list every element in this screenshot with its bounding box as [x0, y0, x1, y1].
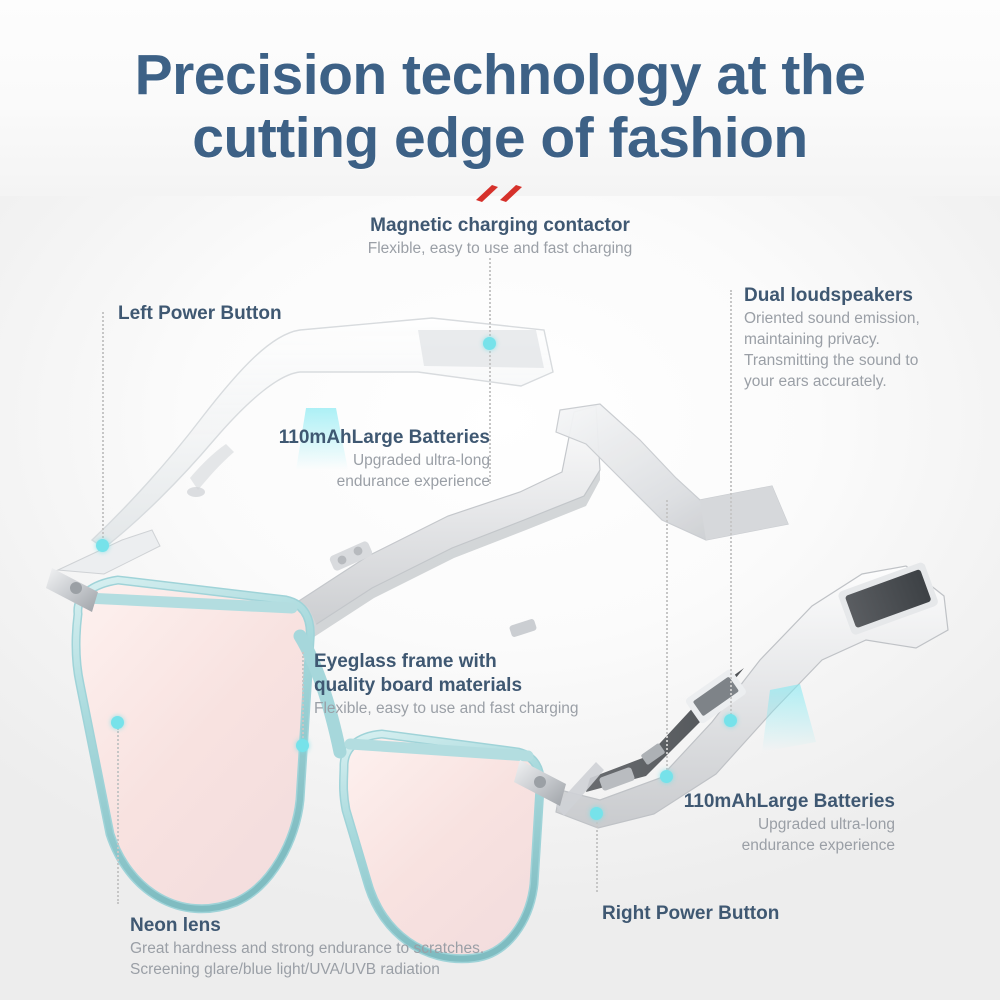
marker-dot-neon-lens — [111, 716, 124, 729]
callout-subtitle-line-2: maintaining privacy. — [744, 329, 974, 350]
callout-subtitle: Flexible, easy to use and fast charging — [330, 238, 670, 259]
callout-title-line-1: Eyeglass frame with — [314, 650, 634, 674]
callout-subtitle-line-4: your ears accurately. — [744, 371, 974, 392]
callout-title: Right Power Button — [602, 902, 862, 926]
callout-subtitle-line-3: Transmitting the sound to — [744, 350, 974, 371]
callout-title-line-2: quality board materials — [314, 674, 634, 698]
callout-subtitle: Flexible, easy to use and fast charging — [314, 698, 634, 719]
marker-dot-magnetic-charging — [483, 337, 496, 350]
page-title-line-1: Precision technology at the — [0, 44, 1000, 107]
callout-batteries-upper: 110mAhLarge Batteries Upgraded ultra-lon… — [228, 426, 490, 492]
leader-line-right-power-button — [596, 818, 598, 892]
callout-subtitle-line-2: endurance experience — [228, 471, 490, 492]
title-banner: Precision technology at the cutting edge… — [0, 0, 1000, 196]
marker-dot-left-power-button — [96, 539, 109, 552]
marker-dot-right-power-button — [590, 807, 603, 820]
marker-dot-batteries-lower — [660, 770, 673, 783]
marker-dot-dual-loudspeakers — [724, 714, 737, 727]
leader-line-batteries-lower — [666, 500, 668, 778]
callout-subtitle-line-2: endurance experience — [630, 835, 895, 856]
callout-title: Left Power Button — [118, 302, 378, 326]
leader-line-dual-loudspeakers — [730, 290, 732, 722]
product-infographic: Precision technology at the cutting edge… — [0, 0, 1000, 1000]
callout-left-power-button: Left Power Button — [118, 302, 378, 326]
callout-right-power-button: Right Power Button — [602, 902, 862, 926]
leader-line-left-power-button — [102, 312, 104, 546]
leader-line-eyeglass-frame — [302, 652, 304, 746]
callout-subtitle-line-1: Oriented sound emission, — [744, 308, 974, 329]
callout-neon-lens: Neon lens Great hardness and strong endu… — [130, 914, 560, 980]
page-title-line-2: cutting edge of fashion — [0, 107, 1000, 170]
double-slash-icon — [472, 182, 528, 204]
callout-title: Neon lens — [130, 914, 560, 938]
page-title: Precision technology at the cutting edge… — [0, 44, 1000, 170]
callout-title: Dual loudspeakers — [744, 284, 974, 308]
leader-line-magnetic-charging — [489, 258, 491, 344]
leader-line-neon-lens — [117, 728, 119, 904]
callout-subtitle-line-1: Upgraded ultra-long — [228, 450, 490, 471]
callout-subtitle-line-2: Screening glare/blue light/UVA/UVB radia… — [130, 959, 560, 980]
callout-dual-loudspeakers: Dual loudspeakers Oriented sound emissio… — [744, 284, 974, 392]
callout-subtitle-line-1: Great hardness and strong endurance to s… — [130, 938, 560, 959]
callout-title: Magnetic charging contactor — [330, 214, 670, 238]
callout-title: 110mAhLarge Batteries — [228, 426, 490, 450]
callout-title: 110mAhLarge Batteries — [630, 790, 895, 814]
callout-batteries-lower: 110mAhLarge Batteries Upgraded ultra-lon… — [630, 790, 895, 856]
callout-magnetic-charging-contactor: Magnetic charging contactor Flexible, ea… — [330, 214, 670, 259]
marker-dot-eyeglass-frame — [296, 739, 309, 752]
callout-eyeglass-frame: Eyeglass frame with quality board materi… — [314, 650, 634, 719]
callout-subtitle-line-1: Upgraded ultra-long — [630, 814, 895, 835]
